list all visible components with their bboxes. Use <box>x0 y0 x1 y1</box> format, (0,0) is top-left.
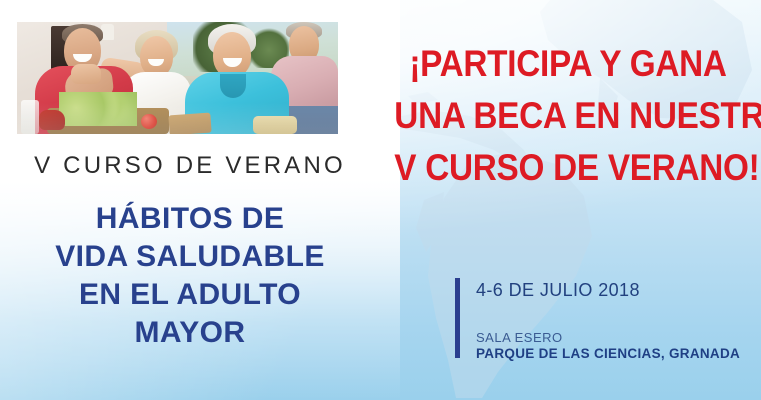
promotional-banner: V CURSO DE VERANO HÁBITOS DE VIDA SALUDA… <box>0 0 761 400</box>
course-title-line-1: HÁBITOS DE <box>0 200 380 238</box>
course-title-line-2: VIDA SALUDABLE <box>0 238 380 276</box>
seniors-photo <box>17 22 338 134</box>
event-accent-bar <box>455 278 460 358</box>
promo-headline-line-2: UNA BECA EN NUESTRO <box>394 90 741 142</box>
promo-headline-line-3: V CURSO DE VERANO! <box>394 142 741 194</box>
course-title-line-4: MAYOR <box>0 314 380 352</box>
course-title-line-3: EN EL ADULTO <box>0 276 380 314</box>
photo-light-overlay <box>17 22 338 134</box>
event-date: 4-6 DE JULIO 2018 <box>476 280 640 301</box>
event-venue-place: PARQUE DE LAS CIENCIAS, GRANADA <box>476 346 740 361</box>
promo-headline: ¡PARTICIPA Y GANA UNA BECA EN NUESTRO V … <box>394 38 741 194</box>
photo-scene <box>17 22 338 134</box>
course-title: HÁBITOS DE VIDA SALUDABLE EN EL ADULTO M… <box>0 200 380 352</box>
course-kicker: V CURSO DE VERANO <box>0 152 380 180</box>
promo-headline-line-1: ¡PARTICIPA Y GANA <box>394 38 741 90</box>
event-venue-room: SALA ESERO <box>476 330 563 345</box>
